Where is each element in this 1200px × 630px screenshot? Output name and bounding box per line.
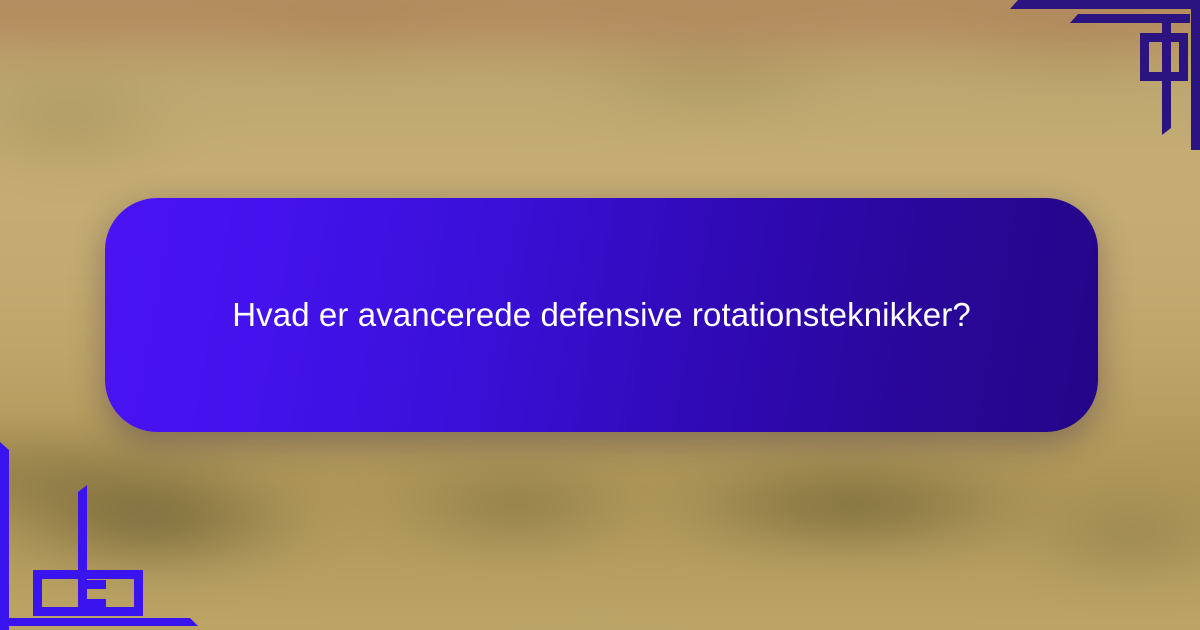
question-card: Hvad er avancerede defensive rotationste… — [105, 198, 1098, 432]
question-card-stage: Hvad er avancerede defensive rotationste… — [0, 0, 1200, 630]
question-text: Hvad er avancerede defensive rotationste… — [222, 288, 982, 341]
